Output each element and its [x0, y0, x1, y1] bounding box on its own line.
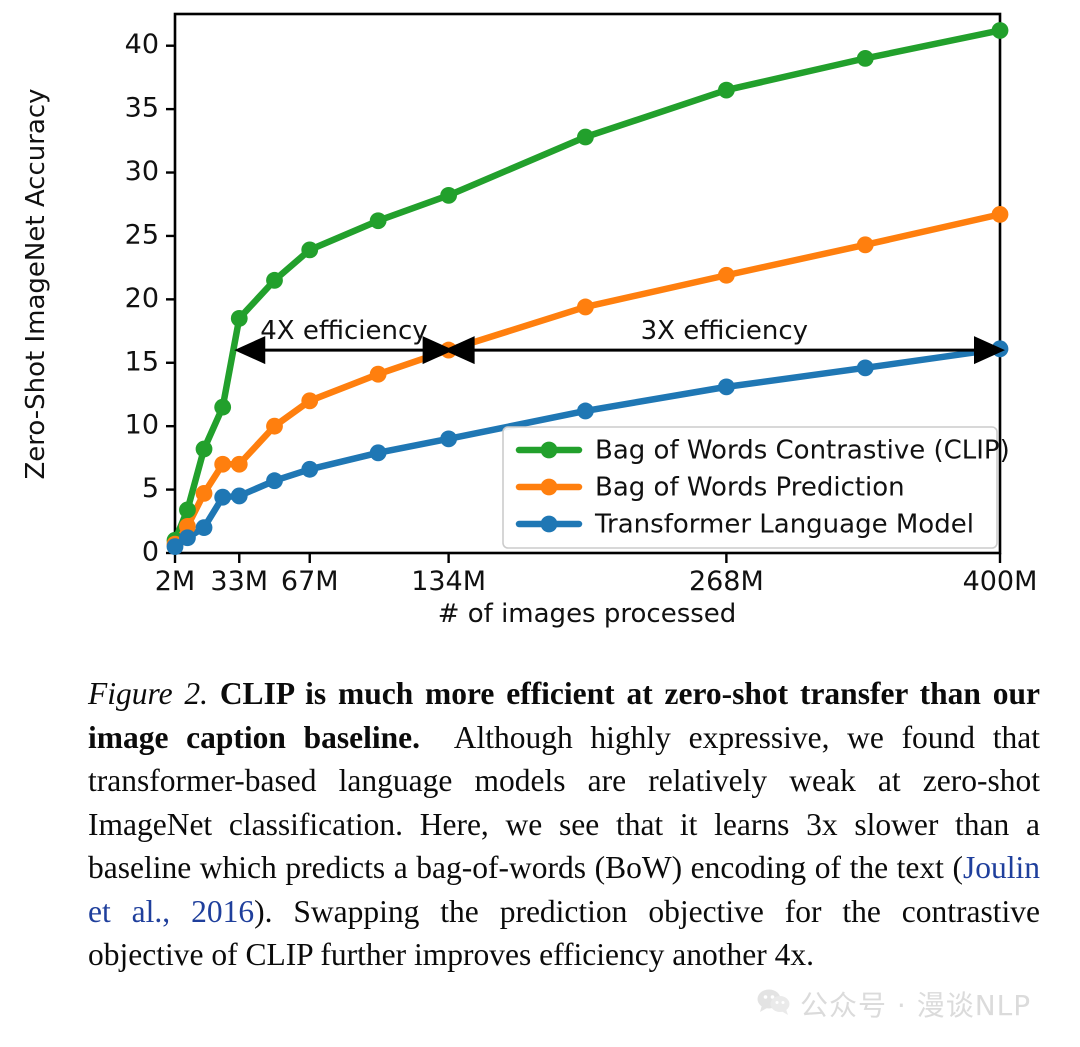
caption-figure-label: Figure 2. [88, 676, 208, 711]
y-axis-ticks: 0510152025303540 [125, 29, 175, 567]
y-tick-label: 5 [142, 473, 159, 504]
annotations-layer: 4X efficiency3X efficiency [234, 316, 1005, 364]
y-tick-label: 30 [125, 156, 159, 187]
x-tick-label: 400M [963, 566, 1038, 597]
series-marker [266, 418, 283, 435]
series-marker [718, 378, 735, 395]
series-marker [214, 489, 231, 506]
y-tick-label: 15 [125, 346, 159, 377]
x-tick-label: 268M [689, 566, 764, 597]
x-tick-label: 134M [411, 566, 486, 597]
series-marker [231, 488, 248, 505]
series-marker [214, 399, 231, 416]
series-marker [266, 272, 283, 289]
annotation-label-1: 3X efficiency [641, 316, 808, 346]
x-tick-label: 33M [210, 566, 268, 597]
x-tick-label: 67M [281, 566, 339, 597]
annotation-arrowhead-left [444, 336, 475, 364]
legend-swatch-marker [541, 479, 558, 496]
series-marker [370, 366, 387, 383]
x-axis-ticks: 2M33M67M134M268M400M [155, 553, 1038, 597]
legend-swatch-marker [541, 442, 558, 459]
series-marker [857, 50, 874, 67]
series-marker [301, 461, 318, 478]
y-tick-label: 40 [125, 29, 159, 60]
legend-label-1: Bag of Words Prediction [595, 473, 905, 503]
series-marker [231, 456, 248, 473]
series-marker [196, 519, 213, 536]
series-marker [214, 456, 231, 473]
series-marker [718, 82, 735, 99]
x-tick-label: 2M [155, 566, 195, 597]
watermark: 公众号 · 漫谈NLP [757, 984, 1031, 1024]
series-marker [857, 359, 874, 376]
series-marker [992, 206, 1009, 223]
y-tick-label: 20 [125, 283, 159, 314]
series-marker [370, 212, 387, 229]
x-axis-title: # of images processed [438, 599, 737, 629]
legend-label-0: Bag of Words Contrastive (CLIP) [595, 436, 1010, 466]
series-marker [301, 241, 318, 258]
legend-label-2: Transformer Language Model [594, 510, 974, 540]
y-tick-label: 10 [125, 410, 159, 441]
series-marker [196, 441, 213, 458]
watermark-text: 公众号 · 漫谈NLP [800, 984, 1031, 1024]
wechat-icon [757, 988, 791, 1020]
series-marker [577, 403, 594, 420]
series-marker [196, 485, 213, 502]
series-marker [440, 187, 457, 204]
y-axis-title: Zero-Shot ImageNet Accuracy [21, 88, 51, 479]
y-tick-label: 25 [125, 219, 159, 250]
series-marker [231, 310, 248, 327]
series-marker [370, 444, 387, 461]
line-chart: 0510152025303540 2M33M67M134M268M400M 4X… [0, 0, 1080, 650]
y-tick-label: 0 [142, 537, 159, 568]
series-marker [857, 236, 874, 253]
legend-swatch-marker [541, 516, 558, 533]
series-marker [577, 299, 594, 316]
figure-caption: Figure 2. CLIP is much more efficient at… [88, 672, 1040, 977]
series-marker [440, 430, 457, 447]
series-marker [301, 392, 318, 409]
chart-figure: 0510152025303540 2M33M67M134M268M400M 4X… [0, 0, 1080, 650]
y-tick-label: 35 [125, 93, 159, 124]
series-marker [266, 472, 283, 489]
annotation-label-0: 4X efficiency [260, 316, 427, 346]
series-marker [577, 129, 594, 146]
chart-legend[interactable]: Bag of Words Contrastive (CLIP)Bag of Wo… [503, 427, 1010, 548]
series-marker [179, 501, 196, 518]
series-marker [992, 22, 1009, 39]
series-marker [179, 529, 196, 546]
figure-page: 0510152025303540 2M33M67M134M268M400M 4X… [0, 0, 1080, 1047]
series-marker [718, 267, 735, 284]
